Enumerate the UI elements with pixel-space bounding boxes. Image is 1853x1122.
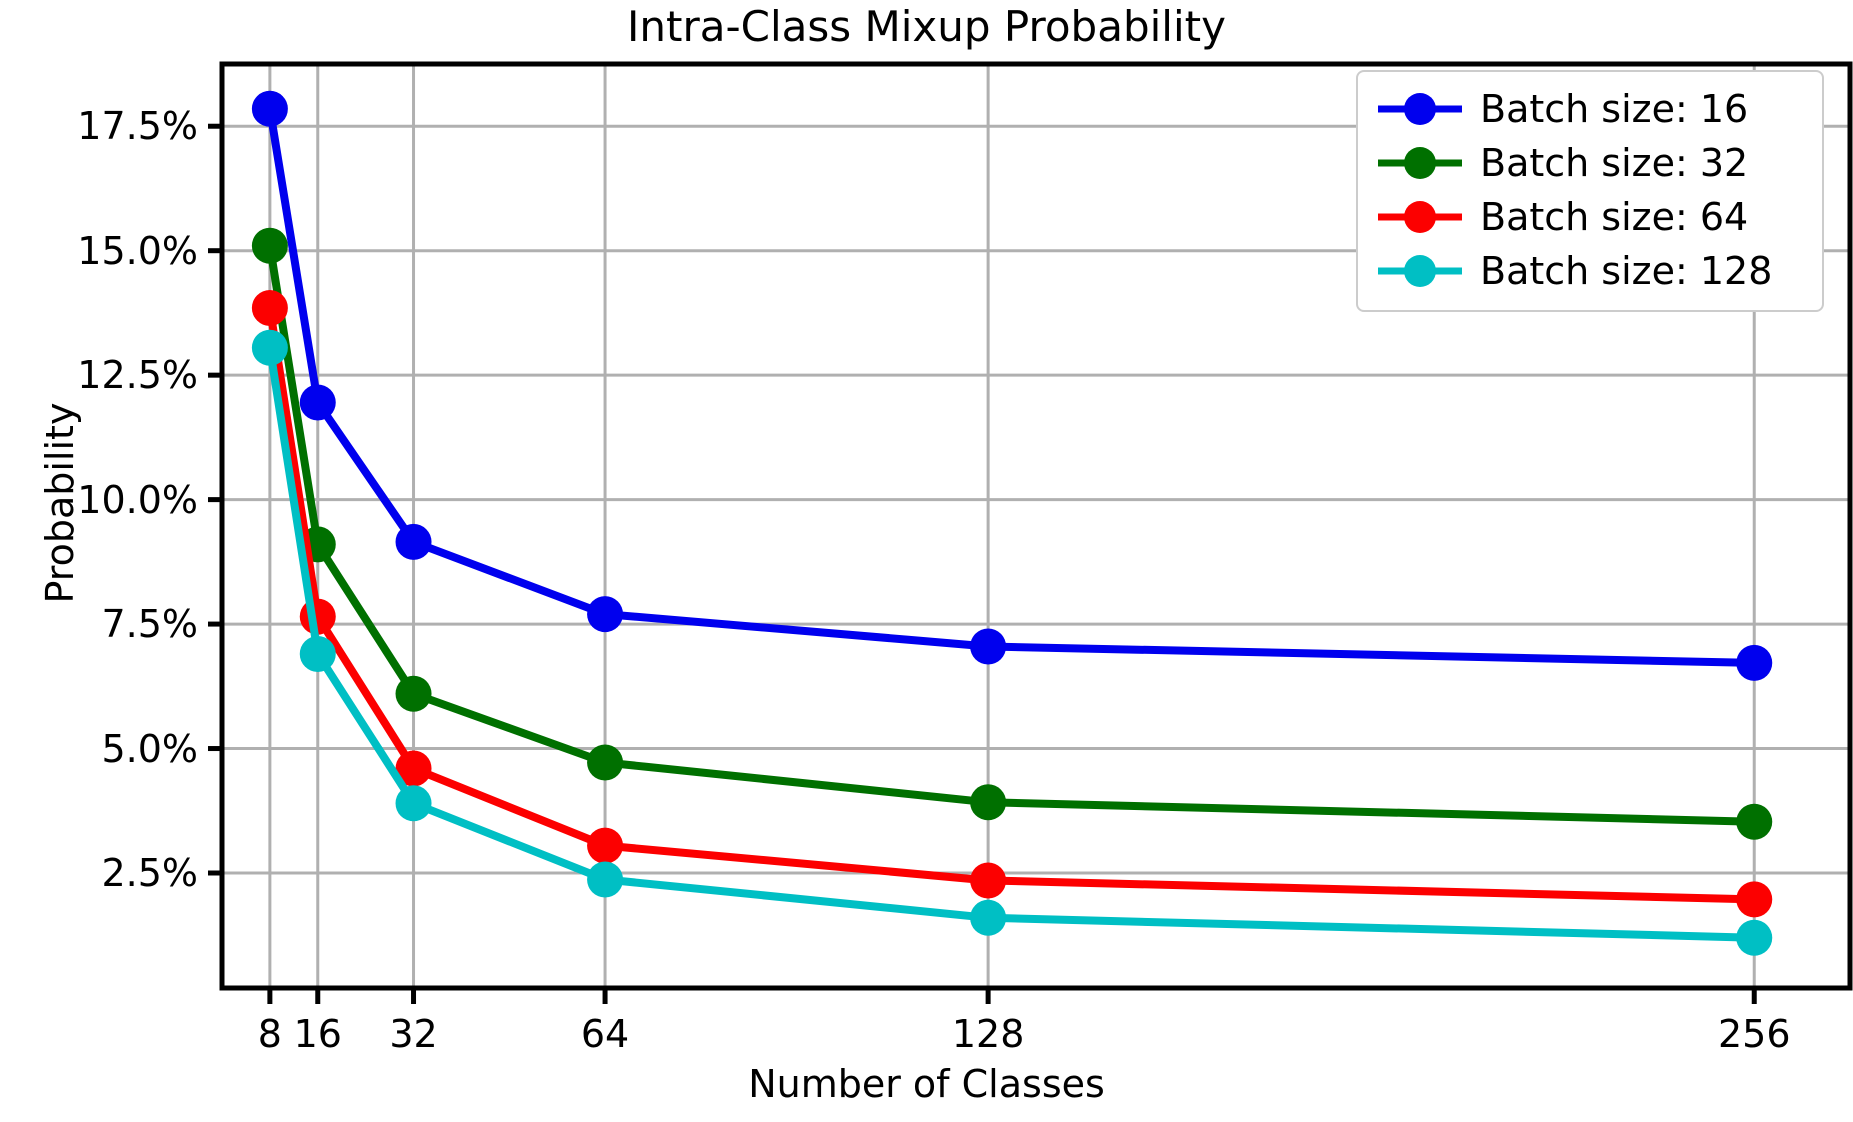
data-point-marker [252,290,288,326]
data-point-marker [587,744,623,780]
y-axis-label: Probability [38,303,82,703]
series-line [270,348,1754,938]
legend-label-1: Batch size: 32 [1480,144,1748,182]
data-point-marker [970,900,1006,936]
data-point-marker [252,91,288,127]
legend-marker-icon-2 [1374,197,1466,237]
y-tick-label: 17.5% [0,104,198,148]
legend-label-3: Batch size: 128 [1480,252,1772,290]
x-tick-label: 256 [1718,1012,1791,1056]
data-point-marker [252,228,288,264]
data-point-marker [252,330,288,366]
x-tick-label: 16 [294,1012,342,1056]
data-point-marker [1736,645,1772,681]
y-tick-label: 2.5% [0,851,198,895]
series-line [270,308,1754,899]
chart-figure: Intra-Class Mixup Probability 2.5%5.0%7.… [0,0,1853,1122]
data-point-marker [1736,881,1772,917]
data-point-marker [970,862,1006,898]
legend-marker-icon-3 [1374,251,1466,291]
data-point-marker [587,861,623,897]
y-tick-label: 15.0% [0,229,198,273]
legend-item-1[interactable]: Batch size: 32 [1374,136,1806,190]
legend: Batch size: 16 Batch size: 32 Batch size… [1356,70,1824,312]
legend-marker-icon-0 [1374,89,1466,129]
data-point-marker [587,828,623,864]
series-2 [252,290,1772,917]
y-tick-label: 12.5% [0,353,198,397]
legend-label-2: Batch size: 64 [1480,198,1748,236]
y-tick-label: 5.0% [0,727,198,771]
data-point-marker [396,785,432,821]
legend-item-2[interactable]: Batch size: 64 [1374,190,1806,244]
data-point-marker [587,596,623,632]
legend-item-0[interactable]: Batch size: 16 [1374,82,1806,136]
data-point-marker [1736,920,1772,956]
data-point-marker [1736,804,1772,840]
x-tick-label: 32 [389,1012,437,1056]
data-point-marker [396,676,432,712]
x-tick-label: 64 [581,1012,629,1056]
data-point-marker [300,385,336,421]
legend-item-3[interactable]: Batch size: 128 [1374,244,1806,298]
legend-marker-icon-1 [1374,143,1466,183]
data-point-marker [300,636,336,672]
y-tick-label: 7.5% [0,602,198,646]
legend-label-0: Batch size: 16 [1480,90,1748,128]
data-point-marker [396,524,432,560]
x-axis-label: Number of Classes [0,1062,1853,1106]
x-tick-label: 8 [258,1012,282,1056]
series-3 [252,330,1772,956]
x-tick-label: 128 [952,1012,1025,1056]
data-point-marker [970,628,1006,664]
series-line [270,246,1754,822]
data-point-marker [970,784,1006,820]
y-tick-label: 10.0% [0,478,198,522]
